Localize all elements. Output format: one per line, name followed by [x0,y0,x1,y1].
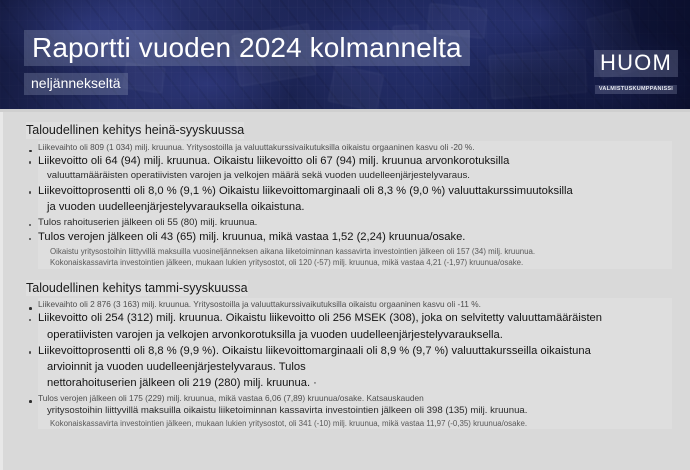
bullet-primary-line: Liikevoittoprosentti oli 8,8 % (9,9 %). … [38,343,672,359]
bullet-continuation-line: Oikaistu yritysostoihin liittyvillä maks… [38,246,672,257]
bullet-item: Liikevoittoprosentti oli 8,0 % (9,1 %) O… [29,183,672,215]
section-heading: Taloudellinen kehitys tammi-syyskuussa [26,280,248,297]
bullet-dot-icon [29,400,32,403]
company-logo: HUOM VALMISTUSKUMPPANISSI [594,50,678,95]
bullet-continuation-line: operatiivisten varojen ja velkojen arvon… [38,327,672,343]
slide-title: Raportti vuoden 2024 kolmannelta [24,30,470,66]
bullet-continuation-line: Kokonaiskassavirta investointien jälkeen… [38,418,672,429]
slide-header-banner: Raportti vuoden 2024 kolmannelta neljänn… [0,0,690,112]
bullet-continuation-line: arvioinnit ja vuoden uudelleenjärjestely… [38,359,672,375]
content-section: Taloudellinen kehitys tammi-syyskuussaLi… [26,279,672,429]
bullet-primary-line: Liikevoitto oli 254 (312) milj. kruunua.… [38,310,672,326]
bullet-item: Tulos verojen jälkeen oli 43 (65) milj. … [29,229,672,268]
bullet-continuation-line: Kokonaiskassavirta investointien jälkeen… [38,257,672,268]
header-bottom-rule [0,109,690,112]
bullet-primary-line: Tulos verojen jälkeen oli 175 (229) milj… [38,392,672,404]
sections-container: Taloudellinen kehitys heinä-syyskuussaLi… [26,121,672,429]
section-heading: Taloudellinen kehitys heinä-syyskuussa [26,122,244,139]
bullet-item: Liikevaihto oli 2 876 (3 163) milj. kruu… [29,298,672,310]
bullet-item: Liikevaihto oli 809 (1 034) milj. kruunu… [29,141,672,153]
bullet-dot-icon [29,351,31,353]
bullet-dot-icon [29,238,31,240]
bullet-dot-icon [29,319,31,321]
bullet-primary-line: Tulos verojen jälkeen oli 43 (65) milj. … [38,229,672,245]
bullet-continuation-line: valuuttamääräisten operatiivisten varoje… [38,169,672,183]
logo-tagline: VALMISTUSKUMPPANISSI [595,85,677,94]
bullet-dot-icon [29,224,31,226]
bullet-item: Tulos rahoituserien jälkeen oli 55 (80) … [29,216,672,230]
bullet-continuation-line: nettorahoituserien jälkeen oli 219 (280)… [38,375,672,391]
bullet-dot-icon [29,161,31,163]
slide-subtitle: neljännekseltä [24,73,128,95]
bullet-primary-line: Liikevaihto oli 2 876 (3 163) milj. kruu… [38,298,672,310]
bullet-primary-line: Tulos rahoituserien jälkeen oli 55 (80) … [38,216,672,230]
slide-body: Taloudellinen kehitys heinä-syyskuussaLi… [0,112,690,470]
bullet-primary-line: Liikevaihto oli 809 (1 034) milj. kruunu… [38,141,672,153]
content-section: Taloudellinen kehitys heinä-syyskuussaLi… [26,121,672,269]
bullet-dot-icon [29,307,32,310]
presentation-slide: Raportti vuoden 2024 kolmannelta neljänn… [0,0,690,470]
bullet-continuation-line: ja vuoden uudelleenjärjestelyvarauksella… [38,199,672,215]
slide-title-block: Raportti vuoden 2024 kolmannelta neljänn… [24,30,470,95]
bullet-item: Liikevoitto oli 254 (312) milj. kruunua.… [29,310,672,342]
logo-wordmark: HUOM [594,50,678,77]
left-edge-strip [0,112,3,470]
bullet-dot-icon [29,191,31,193]
bullet-primary-line: Liikevoitto oli 64 (94) milj. kruunua. O… [38,153,672,169]
bullet-dot-icon [29,150,32,153]
bullet-primary-line: Liikevoittoprosentti oli 8,0 % (9,1 %) O… [38,183,672,199]
bullet-item: Liikevoitto oli 64 (94) milj. kruunua. O… [29,153,672,183]
bullet-item: Tulos verojen jälkeen oli 175 (229) milj… [29,392,672,429]
bullet-item: Liikevoittoprosentti oli 8,8 % (9,9 %). … [29,343,672,392]
bullet-list: Liikevaihto oli 809 (1 034) milj. kruunu… [26,141,672,269]
bullet-continuation-line: yritysostoihin liittyvillä maksuilla oik… [38,404,672,418]
bullet-list: Liikevaihto oli 2 876 (3 163) milj. kruu… [26,298,672,429]
